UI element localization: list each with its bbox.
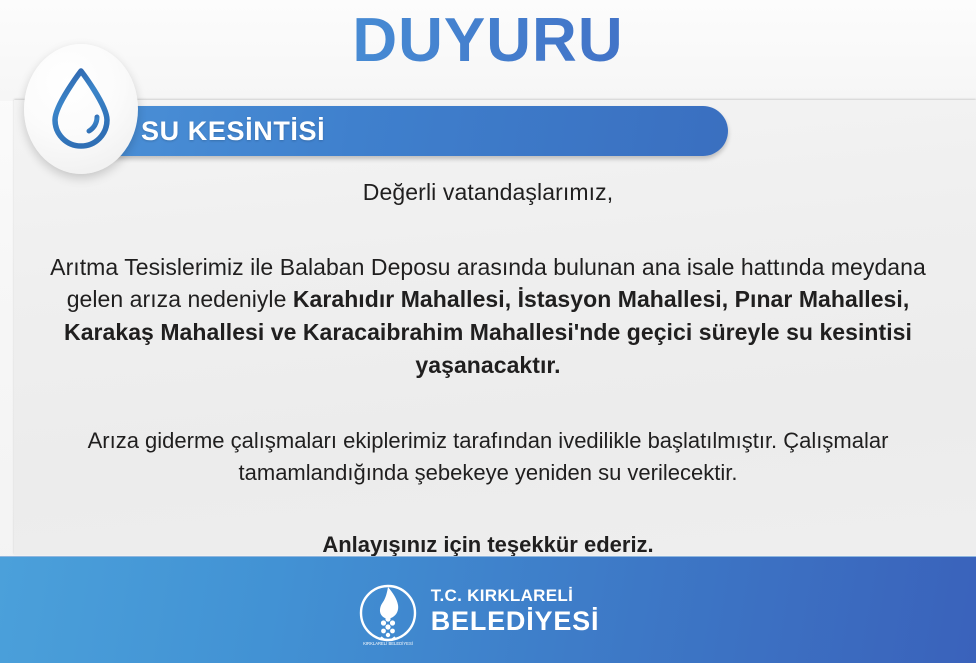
water-drop-icon (49, 67, 113, 151)
greeting-line: Değerli vatandaşlarımız, (0, 178, 976, 207)
page-title: DUYURU (0, 10, 976, 72)
announcement-poster: DUYURU SU KESİNTİSİ Değerli vatandaşları… (0, 0, 976, 663)
footer-logo-group: KIRKLARELİ BELEDİYESİ T.C. KIRKLARELİ BE… (357, 575, 600, 647)
municipality-crest-icon: KIRKLARELİ BELEDİYESİ (357, 575, 419, 647)
subject-banner-label: SU KESİNTİSİ (141, 116, 325, 147)
footer-title-block: T.C. KIRKLARELİ BELEDİYESİ (431, 587, 600, 635)
water-drop-badge (24, 44, 138, 174)
footer-bar: KIRKLARELİ BELEDİYESİ T.C. KIRKLARELİ BE… (0, 556, 976, 663)
announcement-body: Değerli vatandaşlarımız, Arıtma Tesisler… (0, 178, 976, 560)
main-paragraph: Arıtma Tesislerimiz ile Balaban Deposu a… (0, 251, 976, 382)
second-paragraph: Arıza giderme çalışmaları ekiplerimiz ta… (0, 425, 976, 489)
subject-banner: SU KESİNTİSİ (108, 106, 728, 156)
footer-line-one: T.C. KIRKLARELİ (431, 587, 600, 604)
footer-line-two: BELEDİYESİ (431, 608, 600, 635)
svg-text:KIRKLARELİ BELEDİYESİ: KIRKLARELİ BELEDİYESİ (363, 641, 413, 646)
